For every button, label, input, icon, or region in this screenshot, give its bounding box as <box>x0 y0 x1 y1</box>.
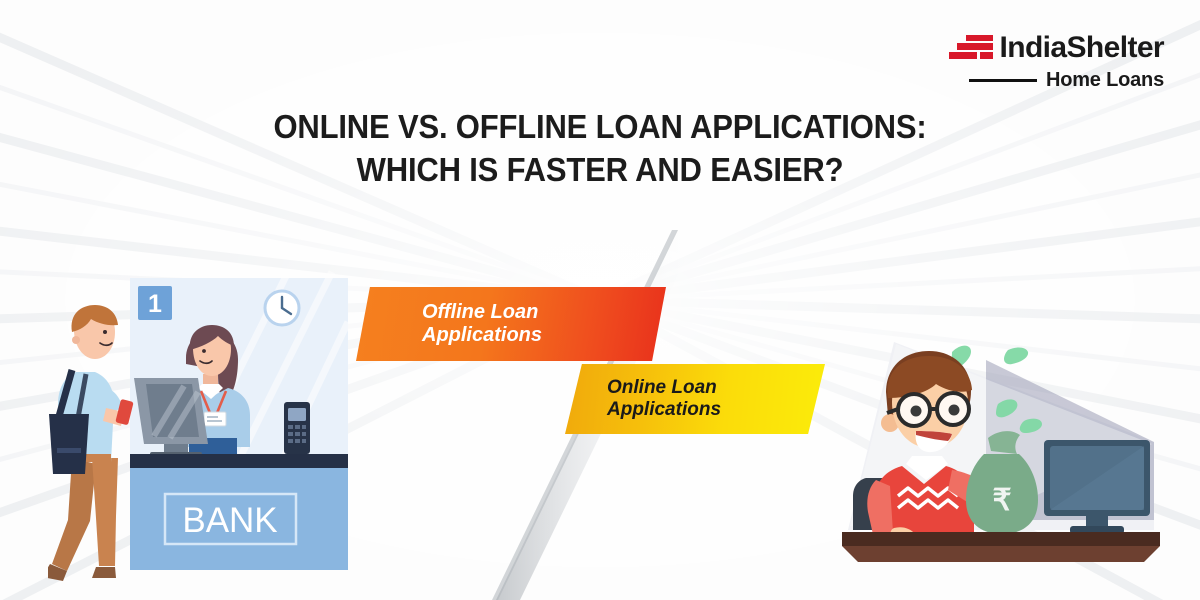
wall-clock-icon <box>265 291 299 325</box>
card-payment-terminal-icon <box>284 402 310 454</box>
india-shelter-brick-logo-icon <box>949 35 993 61</box>
offline-loan-banner-label: Offline Loan Applications <box>422 301 542 347</box>
page-title-line-1: ONLINE VS. OFFLINE LOAN APPLICATIONS: <box>273 108 926 145</box>
brand-logo[interactable]: IndiaShelter Home Loans <box>944 32 1164 92</box>
customer-figure <box>48 305 134 581</box>
logo-divider-rule <box>969 79 1037 82</box>
page-title-line-2: WHICH IS FASTER AND EASIER? <box>357 151 844 188</box>
poster-canvas: IndiaShelter Home Loans ONLINE VS. OFFLI… <box>0 0 1200 600</box>
rupee-symbol: ₹ <box>992 484 1011 517</box>
brand-tagline: Home Loans <box>1046 69 1164 92</box>
bank-counter-label: BANK <box>182 501 277 540</box>
brand-logo-primary: IndiaShelter <box>944 32 1164 64</box>
online-loan-illustration: ₹ <box>836 330 1166 580</box>
online-loan-banner[interactable]: Online Loan Applications <box>565 364 825 434</box>
brand-logo-secondary: Home Loans <box>944 69 1164 92</box>
shoulder-bag-icon <box>49 414 89 474</box>
page-title: ONLINE VS. OFFLINE LOAN APPLICATIONS: WH… <box>36 106 1164 192</box>
offline-loan-banner[interactable]: Offline Loan Applications <box>356 287 666 361</box>
online-loan-banner-label: Online Loan Applications <box>607 377 721 421</box>
office-desk <box>842 532 1160 546</box>
svg-text:1: 1 <box>148 290 162 318</box>
brand-name: IndiaShelter <box>999 33 1164 63</box>
bank-counter-illustration: 1 <box>48 262 348 582</box>
counter-top <box>130 454 348 468</box>
